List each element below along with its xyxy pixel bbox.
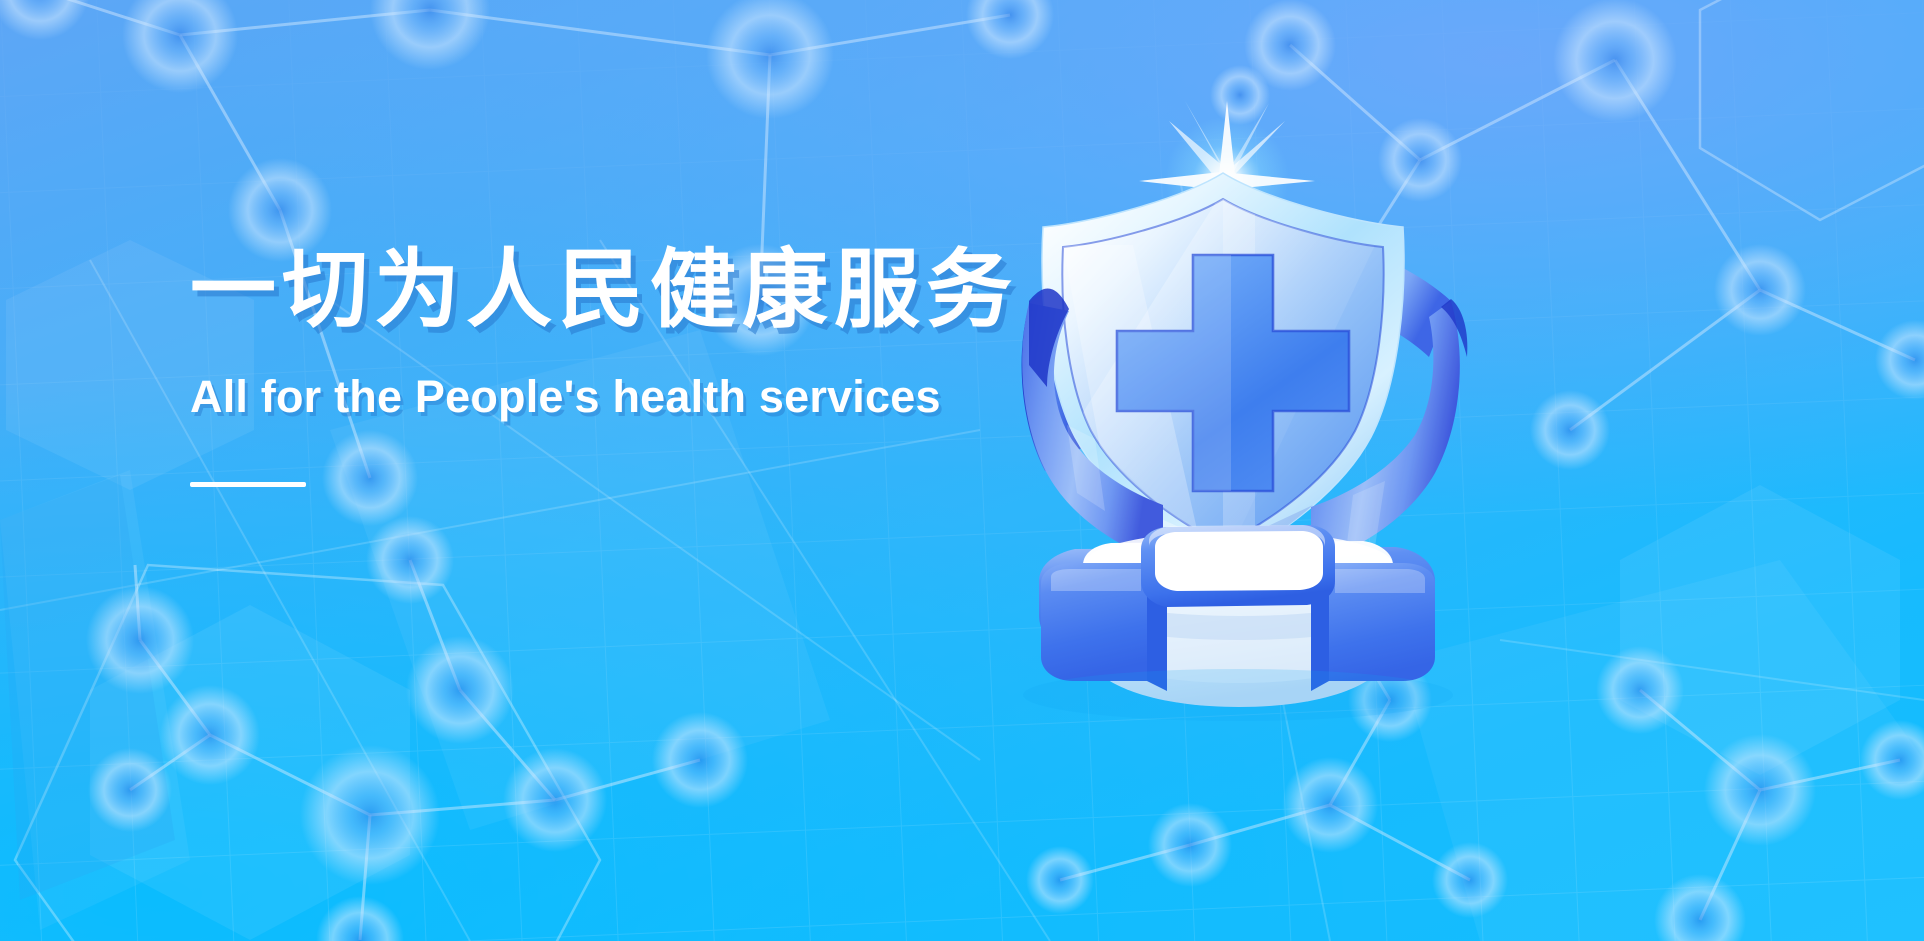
- headline-block: 一切为人民健康服务 All for the People's health se…: [190, 247, 1090, 487]
- title-divider: [190, 482, 306, 487]
- page-subtitle: All for the People's health services: [190, 373, 1090, 420]
- health-banner: 一切为人民健康服务 All for the People's health se…: [0, 0, 1924, 941]
- page-title: 一切为人民健康服务: [190, 247, 1090, 333]
